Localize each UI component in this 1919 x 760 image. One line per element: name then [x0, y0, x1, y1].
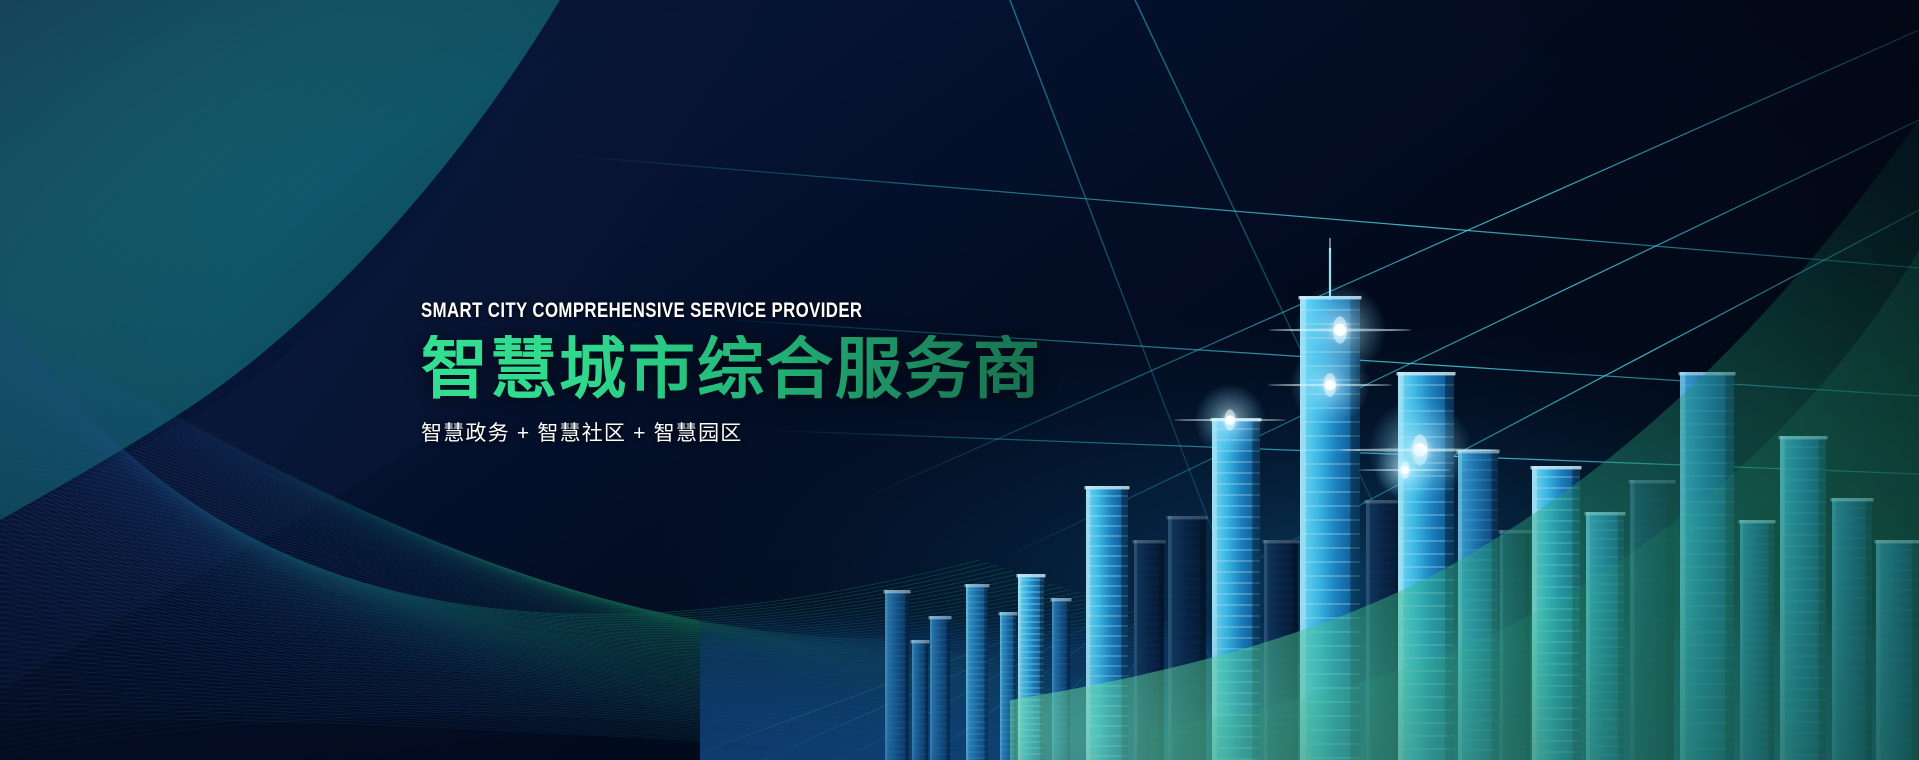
eyebrow-text: SMART CITY COMPREHENSIVE SERVICE PROVIDE…: [421, 300, 918, 321]
smart-city-hero-banner: SMART CITY COMPREHENSIVE SERVICE PROVIDE…: [0, 0, 1919, 760]
hero-copy-block: SMART CITY COMPREHENSIVE SERVICE PROVIDE…: [421, 300, 1042, 447]
subtitle-text: 智慧政务 + 智慧社区 + 智慧园区: [421, 417, 1042, 447]
page-title: 智慧城市综合服务商: [421, 335, 1042, 405]
